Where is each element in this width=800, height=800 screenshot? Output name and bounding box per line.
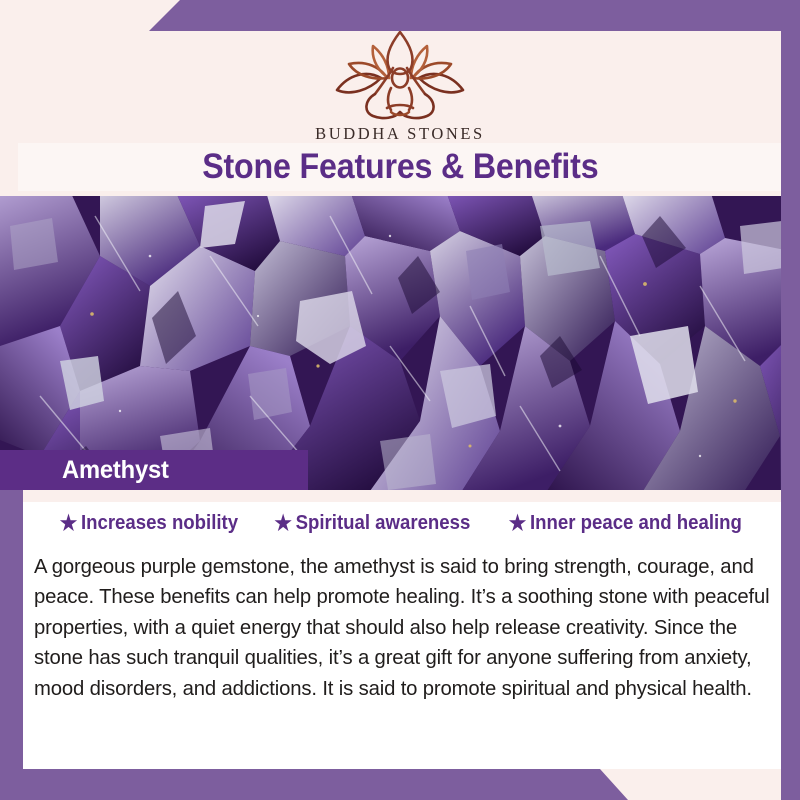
benefit-item-3: ★ Inner peace and healing — [509, 512, 742, 535]
card-top-tint — [23, 490, 781, 502]
stone-name-label: Amethyst — [62, 456, 169, 485]
benefit-label-1: Increases nobility — [81, 512, 238, 535]
star-icon: ★ — [509, 513, 527, 534]
brand-logo: BUDDHA STONES — [0, 28, 800, 144]
star-icon: ★ — [275, 513, 293, 534]
frame-border-bottom — [0, 769, 800, 800]
lotus-meditation-icon — [325, 28, 475, 120]
content-card: ★ Increases nobility ★ Spiritual awarene… — [23, 490, 781, 769]
benefits-list: ★ Increases nobility ★ Spiritual awarene… — [23, 512, 781, 535]
stone-info-card: BUDDHA STONES Stone Features & Benefits … — [0, 0, 800, 800]
brand-name: BUDDHA STONES — [315, 124, 485, 144]
frame-border-right — [781, 0, 800, 800]
benefit-item-1: ★ Increases nobility — [60, 512, 238, 535]
page-title: Stone Features & Benefits — [202, 147, 598, 187]
amethyst-crystal-cluster-photo — [0, 196, 800, 490]
stone-name-banner: Amethyst — [0, 450, 308, 490]
benefit-label-3: Inner peace and healing — [530, 512, 742, 535]
benefit-label-2: Spiritual awareness — [296, 512, 471, 535]
section-title-band: Stone Features & Benefits — [18, 143, 782, 191]
stone-description: A gorgeous purple gemstone, the amethyst… — [34, 552, 776, 704]
frame-border-left — [0, 490, 23, 800]
star-icon: ★ — [60, 513, 78, 534]
benefit-item-2: ★ Spiritual awareness — [275, 512, 471, 535]
